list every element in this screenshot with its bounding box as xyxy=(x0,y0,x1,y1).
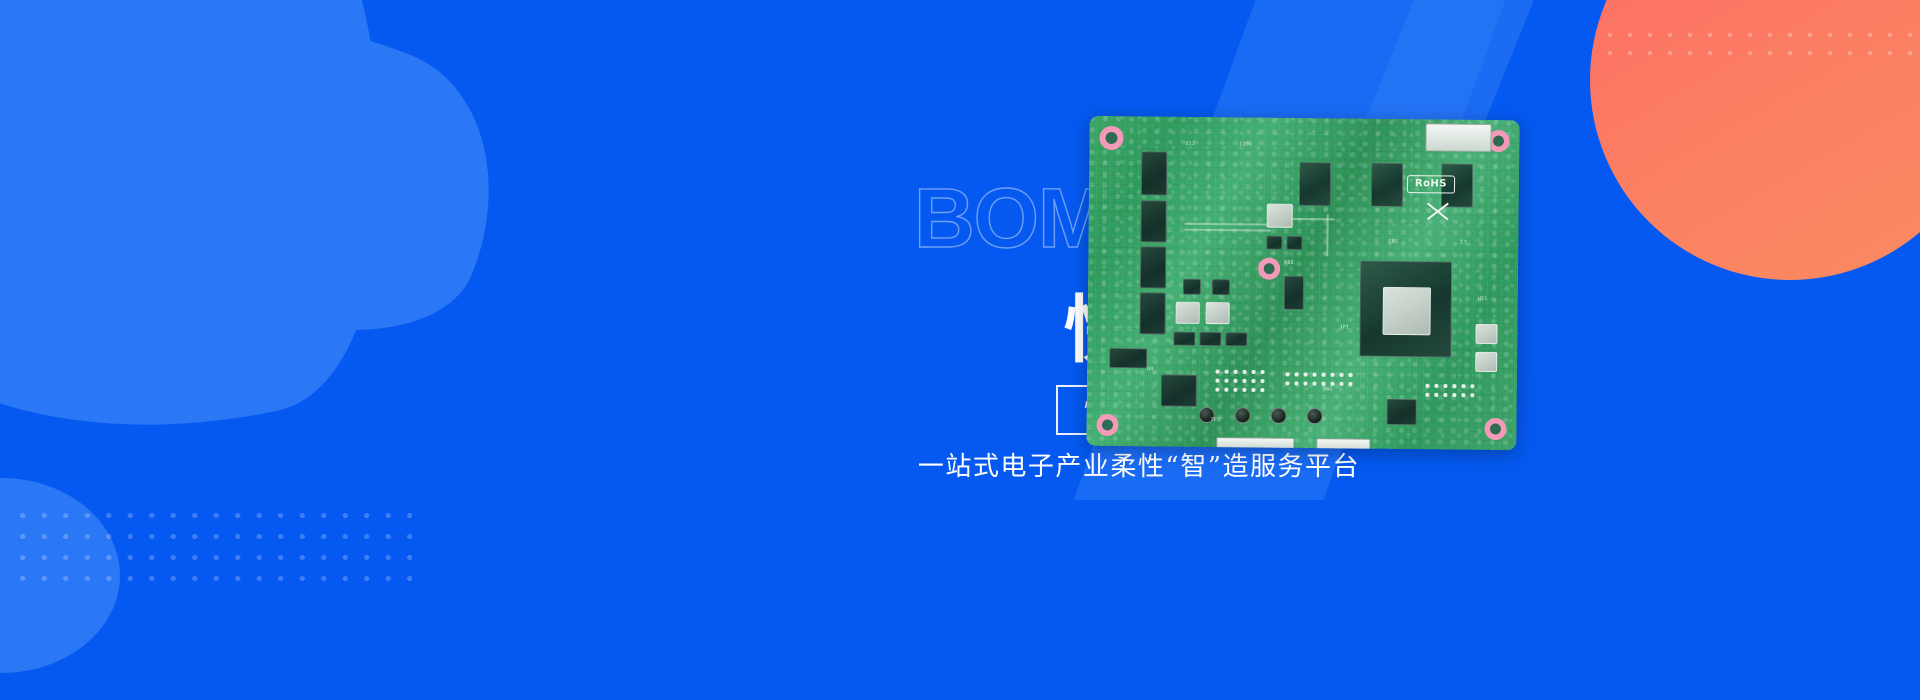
pcb-substrate: U12 C301 R88 JP1 D4 SW2 L7 U21 CN5 TP3 R… xyxy=(1086,116,1519,450)
dot-grid-top-right xyxy=(1600,26,1920,62)
bga-chip-2 xyxy=(1371,163,1403,207)
silkscreen-label-3: R88 xyxy=(1284,260,1294,266)
small-chip-7 xyxy=(1199,332,1221,346)
memory-chip-4 xyxy=(1139,292,1165,334)
blob-shape-main xyxy=(0,0,442,492)
rohs-label: RoHS xyxy=(1407,175,1455,194)
silkscreen-label-5: D4 xyxy=(1147,366,1153,372)
silkscreen-label-2: C301 xyxy=(1239,141,1252,147)
qfp-chip-bottom-2 xyxy=(1387,399,1417,425)
inductor-3 xyxy=(1206,302,1230,324)
small-chip-3 xyxy=(1266,236,1282,250)
memory-chip-2 xyxy=(1140,200,1166,242)
inductor-4 xyxy=(1475,324,1497,344)
blob-shape-tail xyxy=(1,0,540,385)
qfp-chip-bottom xyxy=(1161,375,1197,407)
processor-die xyxy=(1382,287,1431,336)
trace-vertical-1 xyxy=(1326,214,1328,256)
capacitor-3 xyxy=(1271,408,1287,424)
mounting-hole-bottom-left xyxy=(1096,414,1118,436)
pad-array-3 xyxy=(1423,381,1477,402)
silkscreen-label-7: L7 xyxy=(1460,240,1466,246)
silkscreen-label-10: TP3 xyxy=(1211,417,1221,423)
mounting-hole-bottom-right xyxy=(1484,418,1506,440)
pad-array-2 xyxy=(1283,370,1353,391)
silkscreen-label-4: JP1 xyxy=(1340,324,1350,330)
blob-shape-small xyxy=(0,478,120,673)
silkscreen-label-1: U12 xyxy=(1185,141,1195,147)
trace-horizontal-1 xyxy=(1185,223,1271,225)
silkscreen-label-9: CN5 xyxy=(1388,239,1398,245)
capacitor-4 xyxy=(1307,408,1323,424)
bga-chip-1 xyxy=(1299,162,1331,206)
trace-box-outline xyxy=(1287,218,1335,220)
memory-chip-1 xyxy=(1141,151,1167,195)
silkscreen-label-6: SW2 xyxy=(1323,386,1333,392)
small-chip-4 xyxy=(1286,236,1302,250)
small-chip-8 xyxy=(1225,332,1247,346)
small-chip-6 xyxy=(1173,332,1195,346)
rohs-cross-icon xyxy=(1425,199,1451,221)
coral-circle-decoration xyxy=(1590,0,1920,280)
mounting-hole-center xyxy=(1258,258,1280,280)
io-chip-left xyxy=(1109,348,1147,368)
pad-array-1 xyxy=(1213,367,1269,396)
inductor-2 xyxy=(1176,302,1200,324)
dot-grid-bottom-left xyxy=(12,505,412,583)
small-chip-1 xyxy=(1183,279,1201,295)
memory-chip-3 xyxy=(1140,246,1166,288)
capacitor-2 xyxy=(1235,407,1251,423)
promo-banner: BOMBOM 一分钟 快速报价 快速获取报价信息 一站式电子产业柔性“智”造服务… xyxy=(0,0,1920,700)
tagline: 一站式电子产业柔性“智”造服务平台 xyxy=(640,452,1360,483)
connector-top-right xyxy=(1425,123,1491,152)
small-chip-2 xyxy=(1212,279,1230,295)
mounting-hole-top-left xyxy=(1099,126,1123,150)
pcb-board-image: U12 C301 R88 JP1 D4 SW2 L7 U21 CN5 TP3 R… xyxy=(1086,116,1519,450)
inductor-1 xyxy=(1267,204,1293,228)
silkscreen-label-8: U21 xyxy=(1478,296,1488,302)
small-chip-5 xyxy=(1284,276,1304,310)
inductor-5 xyxy=(1475,352,1497,372)
trace-horizontal-2 xyxy=(1185,229,1271,231)
